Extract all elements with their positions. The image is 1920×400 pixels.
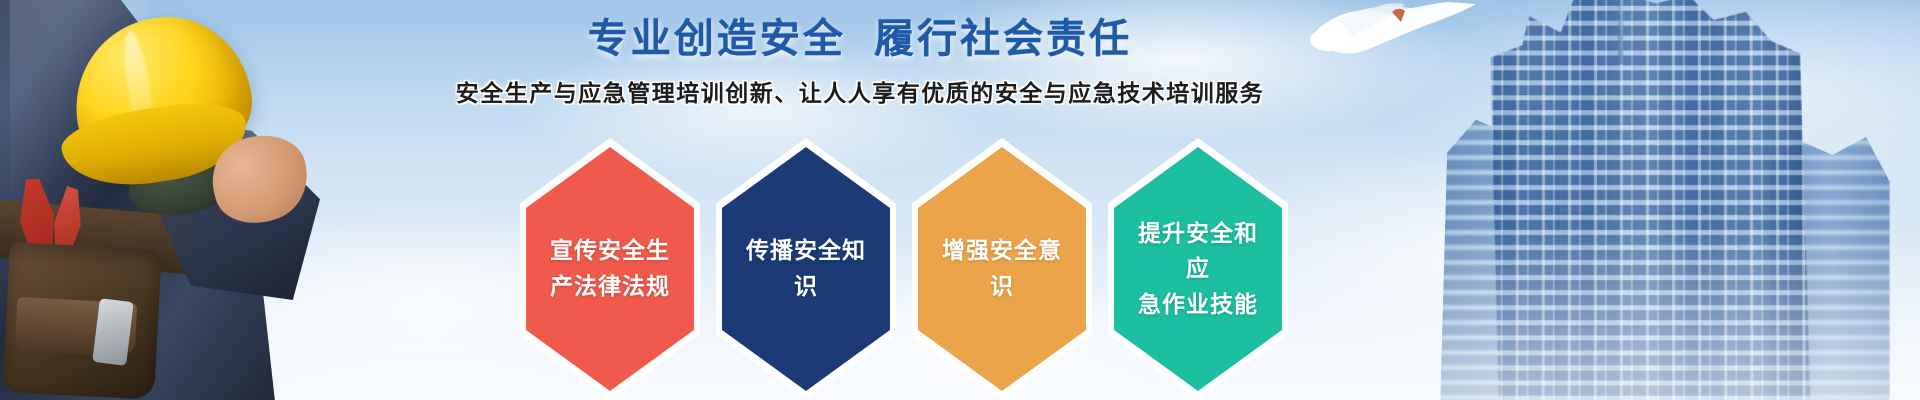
hexagon-card-improve-emergency-skills[interactable]: 提升安全和应 急作业技能 [1108,138,1288,400]
skyscraper-spire [1618,0,1623,64]
headline-block: 专业创造安全 履行社会责任 安全生产与应急管理培训创新、让人人享有优质的安全与应… [330,0,1390,108]
worker-image [0,0,360,400]
hexagon-label-2: 传播安全知识 [736,233,876,304]
hexagon-card-strengthen-safety-awareness[interactable]: 增强安全意识 [912,138,1092,400]
banner-subheadline: 安全生产与应急管理培训创新、让人人享有优质的安全与应急技术培训服务 [330,74,1390,108]
hexagon-card-publicize-safety-laws[interactable]: 宣传安全生 产法律法规 [520,138,700,400]
hexagon-fill-2: 传播安全知识 [722,147,890,391]
hexagon-label-4: 提升安全和应 急作业技能 [1138,216,1258,323]
hexagon-feature-row: 宣传安全生 产法律法规 传播安全知识 增强安全意识 提升安全和应 急作业技能 [520,138,1288,400]
skyscraper-main-tower [1489,0,1810,400]
hexagon-label-1: 宣传安全生 产法律法规 [550,233,670,304]
hexagon-fill-4: 提升安全和应 急作业技能 [1114,147,1282,391]
hexagon-card-spread-safety-knowledge[interactable]: 传播安全知识 [716,138,896,400]
skyscraper-image [1300,0,1920,400]
hexagon-label-3: 增强安全意识 [932,233,1072,304]
hexagon-fill-3: 增强安全意识 [918,147,1086,391]
banner-headline: 专业创造安全 履行社会责任 [330,0,1390,64]
hexagon-fill-1: 宣传安全生 产法律法规 [526,147,694,391]
promo-banner: 专业创造安全 履行社会责任 安全生产与应急管理培训创新、让人人享有优质的安全与应… [0,0,1920,400]
